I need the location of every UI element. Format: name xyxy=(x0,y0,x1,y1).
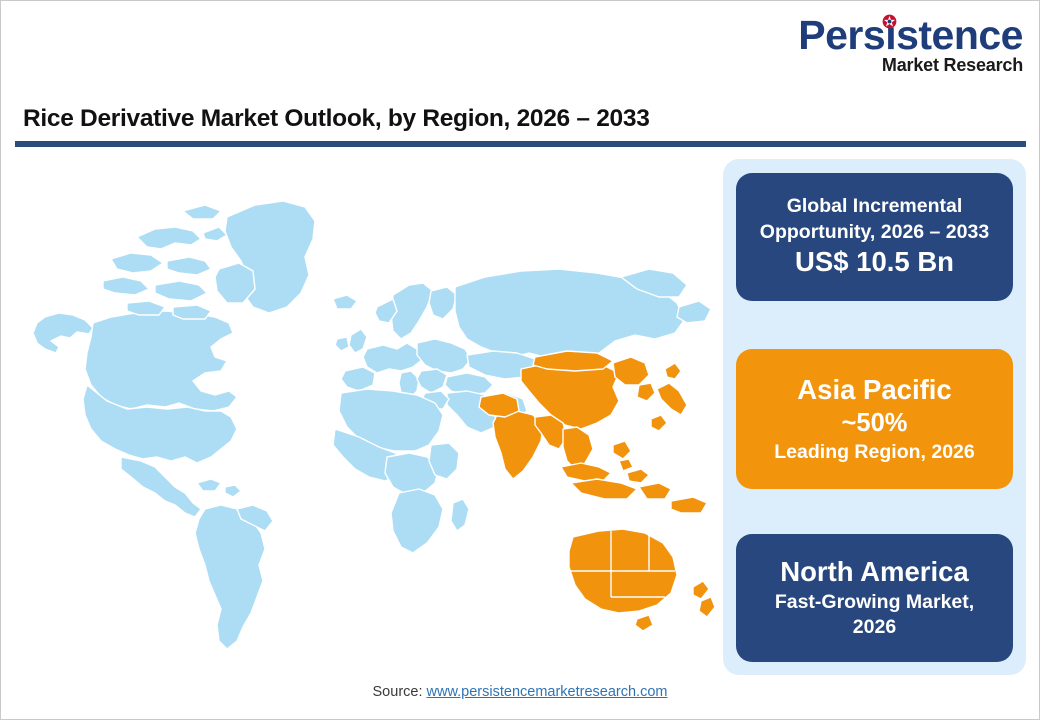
brand-logo: Persistence Market Research xyxy=(791,15,1023,81)
brand-name-text: Persistence xyxy=(798,12,1023,58)
leading-region-caption: Leading Region, 2026 xyxy=(774,440,974,465)
leading-region-name: Asia Pacific xyxy=(797,373,951,407)
fast-growing-region-name: North America xyxy=(780,555,968,589)
fast-growing-caption-line1: Fast-Growing Market, xyxy=(775,590,974,615)
brand-name-wordmark: Persistence xyxy=(798,15,1023,57)
card-leading-region[interactable]: Asia Pacific ~50% Leading Region, 2026 xyxy=(736,349,1013,489)
opportunity-label-line1: Global Incremental xyxy=(787,194,963,219)
title-divider xyxy=(15,141,1026,147)
opportunity-value: US$ 10.5 Bn xyxy=(795,245,954,279)
card-fast-growing-market[interactable]: North America Fast-Growing Market, 2026 xyxy=(736,534,1013,662)
source-label: Source: xyxy=(373,684,423,700)
card-global-incremental-opportunity[interactable]: Global Incremental Opportunity, 2026 – 2… xyxy=(736,173,1013,301)
world-map-svg xyxy=(15,157,721,675)
infographic-page: Persistence Market Research Rice Derivat… xyxy=(0,0,1040,720)
page-title: Rice Derivative Market Outlook, by Regio… xyxy=(23,105,650,133)
leading-region-share: ~50% xyxy=(842,407,908,440)
source-footer: Source: www.persistencemarketresearch.co… xyxy=(1,684,1039,700)
map-highlighted-asia-pacific xyxy=(479,351,715,631)
fast-growing-caption-line2: 2026 xyxy=(853,615,896,640)
source-link[interactable]: www.persistencemarketresearch.com xyxy=(427,684,668,700)
star-icon xyxy=(882,14,897,29)
metrics-panel: Global Incremental Opportunity, 2026 – 2… xyxy=(723,159,1026,675)
world-map xyxy=(15,157,721,675)
opportunity-label-line2: Opportunity, 2026 – 2033 xyxy=(760,220,989,245)
